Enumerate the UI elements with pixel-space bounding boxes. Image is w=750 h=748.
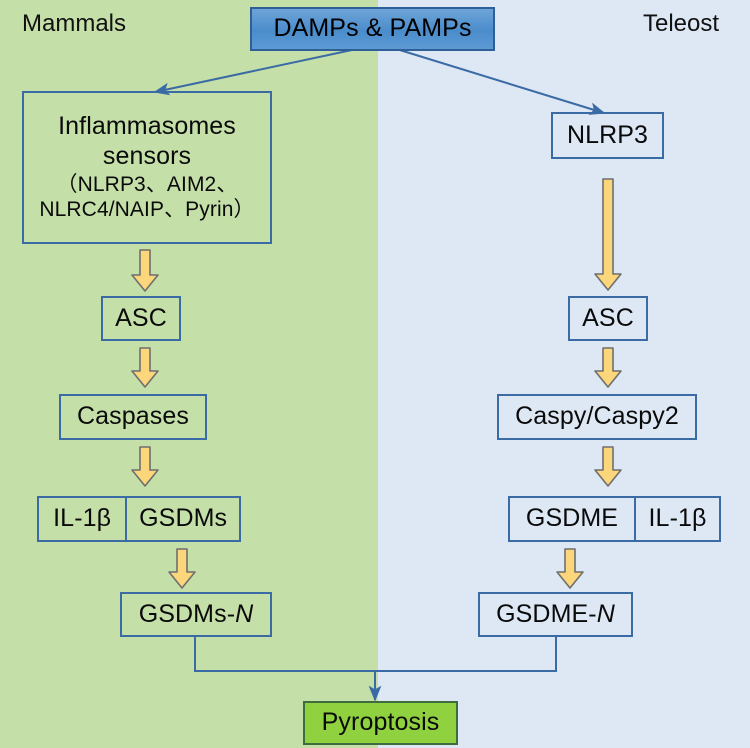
node-pyroptosis[interactable]: Pyroptosis xyxy=(303,701,458,745)
node-asc-mammals[interactable]: ASC xyxy=(101,296,181,341)
node-caspases-label: Caspases xyxy=(77,402,189,432)
node-gsdme-n[interactable]: GSDME-N xyxy=(478,592,633,637)
sensors-line-3: （NLRP3、AIM2、 xyxy=(57,173,238,198)
node-gsdme-n-suffix: N xyxy=(597,600,615,630)
node-inflammasome-sensors-text: Inflammasomes sensors （NLRP3、AIM2、 NLRC4… xyxy=(24,112,270,223)
node-gsdms-n-prefix: GSDMs- xyxy=(139,600,235,630)
node-teleost-effector-gsdme[interactable]: GSDME xyxy=(510,498,634,540)
node-teleost-effector-gsdme-label: GSDME xyxy=(526,504,618,534)
diagram-canvas: Mammals Teleost xyxy=(0,0,750,748)
region-label-mammals: Mammals xyxy=(22,10,126,38)
region-label-teleost: Teleost xyxy=(643,10,719,38)
node-mammal-effector-il1b-label: IL-1β xyxy=(53,504,111,534)
node-mammal-effector-gsdms[interactable]: GSDMs xyxy=(125,498,239,540)
node-asc-teleost[interactable]: ASC xyxy=(568,296,648,341)
node-caspy-caspy2-label: Caspy/Caspy2 xyxy=(515,402,679,432)
node-teleost-effector-il1b[interactable]: IL-1β xyxy=(634,498,719,540)
node-damps-pamps[interactable]: DAMPs & PAMPs xyxy=(250,7,495,51)
node-gsdms-n[interactable]: GSDMs-N xyxy=(120,592,272,637)
node-caspases[interactable]: Caspases xyxy=(59,394,207,440)
node-gsdms-n-suffix: N xyxy=(235,600,253,630)
node-pyroptosis-label: Pyroptosis xyxy=(322,708,440,738)
node-nlrp3-label: NLRP3 xyxy=(567,121,648,151)
sensors-line-1: Inflammasomes xyxy=(58,112,236,142)
node-mammal-effectors[interactable]: IL-1β GSDMs xyxy=(37,496,241,542)
sensors-line-2: sensors xyxy=(103,142,191,172)
node-inflammasome-sensors[interactable]: Inflammasomes sensors （NLRP3、AIM2、 NLRC4… xyxy=(22,91,272,244)
node-asc-teleost-label: ASC xyxy=(582,304,634,334)
node-damps-pamps-label: DAMPs & PAMPs xyxy=(273,14,471,44)
node-mammal-effector-il1b[interactable]: IL-1β xyxy=(39,498,125,540)
node-caspy-caspy2[interactable]: Caspy/Caspy2 xyxy=(497,394,697,440)
node-asc-mammals-label: ASC xyxy=(115,304,167,334)
sensors-line-4: NLRC4/NAIP、Pyrin） xyxy=(39,198,254,223)
node-mammal-effector-gsdms-label: GSDMs xyxy=(139,504,227,534)
node-teleost-effectors[interactable]: GSDME IL-1β xyxy=(508,496,721,542)
node-gsdme-n-prefix: GSDME- xyxy=(496,600,597,630)
node-nlrp3[interactable]: NLRP3 xyxy=(551,112,664,159)
node-teleost-effector-il1b-label: IL-1β xyxy=(649,504,707,534)
